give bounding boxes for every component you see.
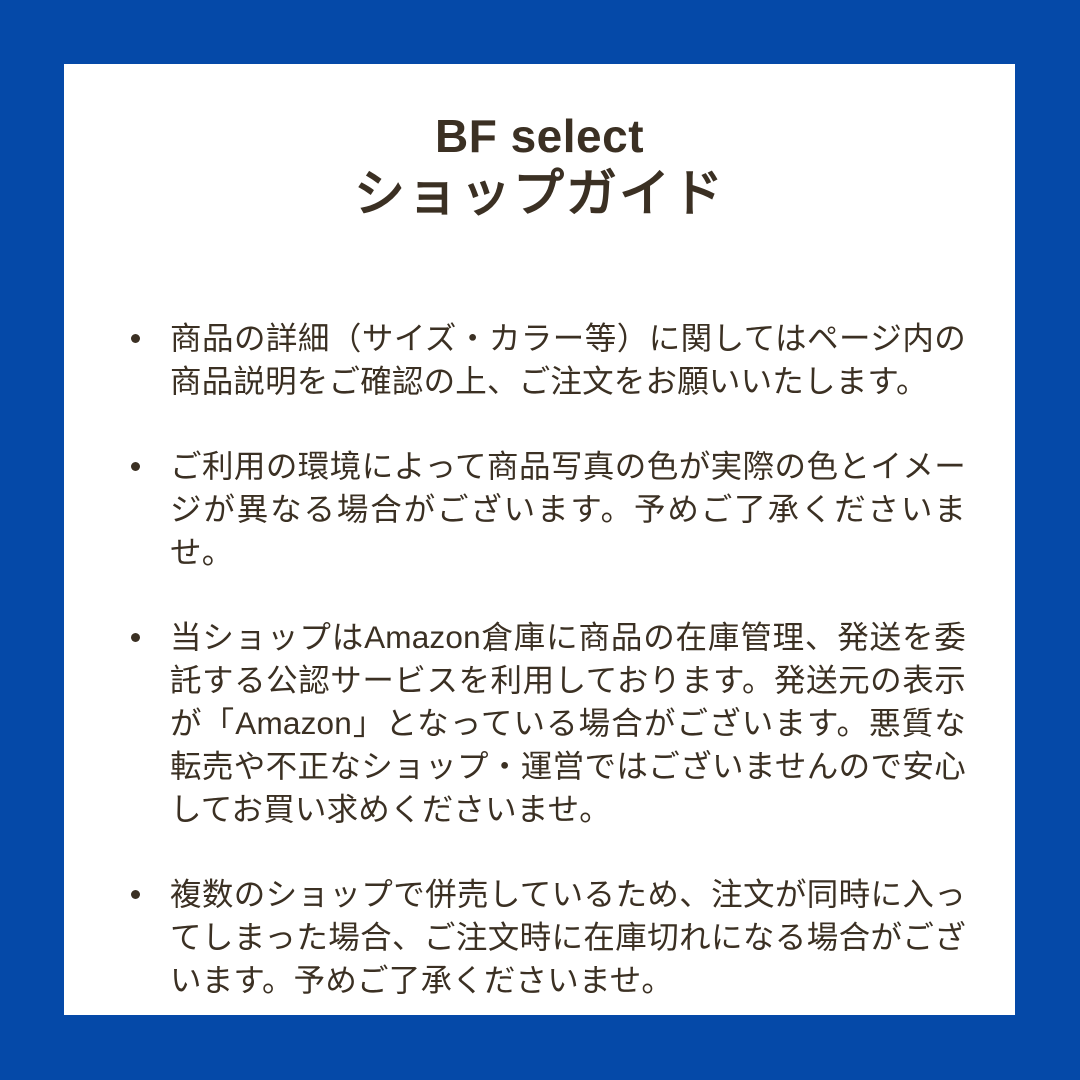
list-item-text: ご利用の環境によって商品写真の色が実際の色とイメージが異なる場合がございます。予… bbox=[170, 445, 966, 574]
title-line-subtitle: ショップガイド bbox=[64, 164, 1015, 224]
list-item: 当ショップはAmazon倉庫に商品の在庫管理、発送を委託する公認サービスを利用し… bbox=[126, 616, 966, 831]
bullet-dot-icon bbox=[131, 462, 140, 471]
bullet-dot-icon bbox=[131, 890, 140, 899]
list-item: ご利用の環境によって商品写真の色が実際の色とイメージが異なる場合がございます。予… bbox=[126, 445, 966, 574]
title-line-brand: BF select bbox=[64, 108, 1015, 164]
list-item-text: 当ショップはAmazon倉庫に商品の在庫管理、発送を委託する公認サービスを利用し… bbox=[170, 616, 966, 831]
list-item-text: 複数のショップで併売しているため、注文が同時に入ってしまった場合、ご注文時に在庫… bbox=[170, 873, 966, 1002]
page-title: BF select ショップガイド bbox=[64, 108, 1015, 224]
bullet-dot-icon bbox=[131, 633, 140, 642]
bullet-dot-icon bbox=[131, 334, 140, 343]
page-frame: BF select ショップガイド 商品の詳細（サイズ・カラー等）に関してはペー… bbox=[0, 0, 1080, 1080]
guide-bullet-list: 商品の詳細（サイズ・カラー等）に関してはページ内の商品説明をご確認の上、ご注文を… bbox=[126, 317, 966, 1002]
list-item-text: 商品の詳細（サイズ・カラー等）に関してはページ内の商品説明をご確認の上、ご注文を… bbox=[170, 317, 966, 403]
list-item: 商品の詳細（サイズ・カラー等）に関してはページ内の商品説明をご確認の上、ご注文を… bbox=[126, 317, 966, 403]
guide-card: BF select ショップガイド 商品の詳細（サイズ・カラー等）に関してはペー… bbox=[64, 64, 1015, 1015]
list-item: 複数のショップで併売しているため、注文が同時に入ってしまった場合、ご注文時に在庫… bbox=[126, 873, 966, 1002]
